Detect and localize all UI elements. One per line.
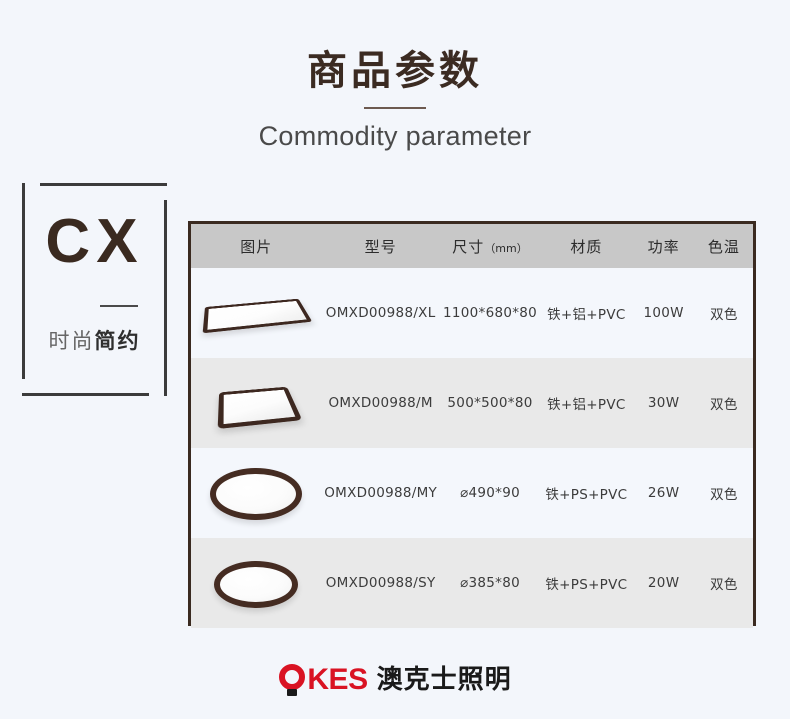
title-divider: [364, 107, 426, 109]
lightbulb-icon: [278, 664, 306, 696]
cell-size: ⌀385*80: [440, 538, 540, 628]
column-header-cct-label: 色温: [708, 238, 740, 256]
product-parameter-page: 商品参数 Commodity parameter CX 时尚简约 图片 型号 尺…: [0, 0, 790, 719]
column-header-size-label: 尺寸: [452, 238, 484, 256]
round-ceiling-lamp-icon: [197, 450, 315, 536]
okes-logo-mark: KES: [278, 664, 367, 696]
cell-size: ⌀490*90: [440, 448, 540, 538]
cell-power: 100W: [633, 268, 695, 358]
table-row: OMXD00988/XL 1100*680*80 铁+铝+PVC 100W 双色: [191, 268, 753, 358]
column-header-image-label: 图片: [240, 238, 272, 256]
cell-material: 铁+铝+PVC: [540, 358, 632, 448]
product-image-cell: [191, 358, 321, 448]
page-header: 商品参数 Commodity parameter: [0, 48, 790, 152]
column-header-power-label: 功率: [648, 238, 680, 256]
column-header-model-label: 型号: [365, 238, 397, 256]
column-header-size-unit: （mm）: [484, 242, 527, 255]
brand-badge: CX 时尚简约: [22, 183, 167, 396]
badge-divider: [100, 305, 138, 307]
rectangular-ceiling-lamp-icon: [197, 270, 315, 356]
table-row: OMXD00988/M 500*500*80 铁+铝+PVC 30W 双色: [191, 358, 753, 448]
cell-model: OMXD00988/MY: [321, 448, 439, 538]
parameter-table: 图片 型号 尺寸（mm） 材质 功率 色温 OMXD00988/XL: [191, 224, 753, 628]
footer-logo: KES 澳克士照明: [0, 664, 790, 696]
badge-subtitle: 时尚简约: [22, 325, 167, 355]
lamp-body: [214, 561, 298, 608]
cell-power: 30W: [633, 358, 695, 448]
cell-cct: 双色: [695, 448, 753, 538]
cell-power: 20W: [633, 538, 695, 628]
column-header-cct: 色温: [695, 224, 753, 268]
table-header: 图片 型号 尺寸（mm） 材质 功率 色温: [191, 224, 753, 268]
product-image-cell: [191, 448, 321, 538]
lamp-body: [210, 468, 302, 520]
lightbulb-base: [287, 689, 297, 696]
cell-cct: 双色: [695, 358, 753, 448]
table-body: OMXD00988/XL 1100*680*80 铁+铝+PVC 100W 双色…: [191, 268, 753, 628]
badge-subtitle-bold: 简约: [95, 329, 141, 353]
table-row: OMXD00988/MY ⌀490*90 铁+PS+PVC 26W 双色: [191, 448, 753, 538]
lamp-body: [203, 299, 313, 334]
product-image-cell: [191, 268, 321, 358]
page-subtitle: Commodity parameter: [0, 120, 790, 152]
cell-power: 26W: [633, 448, 695, 538]
cell-model: OMXD00988/SY: [321, 538, 439, 628]
cell-model: OMXD00988/XL: [321, 268, 439, 358]
logo-chinese-text: 澳克士照明: [377, 667, 512, 693]
table-header-row: 图片 型号 尺寸（mm） 材质 功率 色温: [191, 224, 753, 268]
cell-size: 1100*680*80: [440, 268, 540, 358]
cell-model: OMXD00988/M: [321, 358, 439, 448]
column-header-model: 型号: [321, 224, 439, 268]
column-header-material: 材质: [540, 224, 632, 268]
badge-frame-top: [40, 183, 167, 186]
table-row: OMXD00988/SY ⌀385*80 铁+PS+PVC 20W 双色: [191, 538, 753, 628]
cell-material: 铁+铝+PVC: [540, 268, 632, 358]
cell-size: 500*500*80: [440, 358, 540, 448]
parameter-table-frame: 图片 型号 尺寸（mm） 材质 功率 色温 OMXD00988/XL: [188, 221, 756, 626]
product-image-cell: [191, 538, 321, 628]
lightbulb-glass: [279, 664, 305, 690]
cell-material: 铁+PS+PVC: [540, 448, 632, 538]
cell-cct: 双色: [695, 538, 753, 628]
cell-material: 铁+PS+PVC: [540, 538, 632, 628]
badge-subtitle-thin: 时尚: [49, 329, 95, 353]
column-header-material-label: 材质: [570, 238, 602, 256]
column-header-power: 功率: [633, 224, 695, 268]
round-ceiling-lamp-small-icon: [197, 540, 315, 626]
page-title: 商品参数: [0, 48, 790, 94]
lamp-body: [218, 387, 303, 429]
badge-frame-bottom: [22, 393, 149, 396]
badge-letters: CX: [22, 211, 167, 273]
column-header-image: 图片: [191, 224, 321, 268]
logo-latin-text: KES: [307, 665, 367, 695]
cell-cct: 双色: [695, 268, 753, 358]
column-header-size: 尺寸（mm）: [440, 224, 540, 268]
square-ceiling-lamp-icon: [197, 360, 315, 446]
